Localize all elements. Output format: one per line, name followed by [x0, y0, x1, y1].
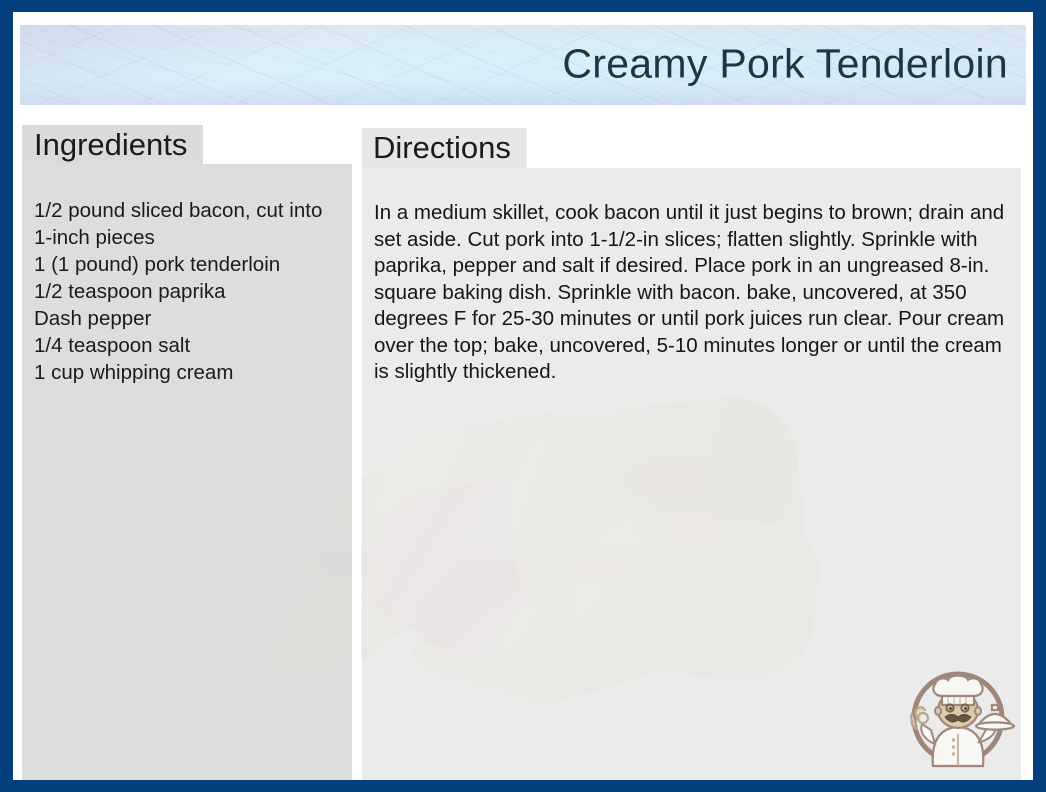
chef-logo — [895, 648, 1021, 774]
directions-heading-tab: Directions — [362, 128, 527, 168]
ingredient-item: 1/2 teaspoon paprika — [34, 278, 346, 305]
ingredient-item: 1 cup whipping cream — [34, 359, 346, 386]
ingredients-heading-tab: Ingredients — [22, 125, 203, 165]
title-banner: Creamy Pork Tenderloin — [20, 25, 1026, 105]
ingredients-panel: 1/2 pound sliced bacon, cut into 1-inch … — [22, 164, 352, 780]
directions-body: In a medium skillet, cook bacon until it… — [374, 200, 1011, 386]
card-inner: Creamy Pork Tenderloin Ingredients 1/2 p… — [13, 12, 1033, 780]
column-divider — [352, 112, 361, 780]
ingredient-item: 1/4 teaspoon salt — [34, 332, 346, 359]
ingredient-item: Dash pepper — [34, 305, 346, 332]
ingredients-heading: Ingredients — [34, 127, 187, 163]
ingredient-item: 1/2 pound sliced bacon, cut into 1-inch … — [34, 197, 346, 251]
page-title: Creamy Pork Tenderloin — [562, 41, 1008, 88]
directions-heading: Directions — [373, 130, 511, 166]
ingredient-item: 1 (1 pound) pork tenderloin — [34, 251, 346, 278]
recipe-card: Creamy Pork Tenderloin Ingredients 1/2 p… — [0, 0, 1046, 792]
ingredients-list: 1/2 pound sliced bacon, cut into 1-inch … — [34, 197, 346, 386]
